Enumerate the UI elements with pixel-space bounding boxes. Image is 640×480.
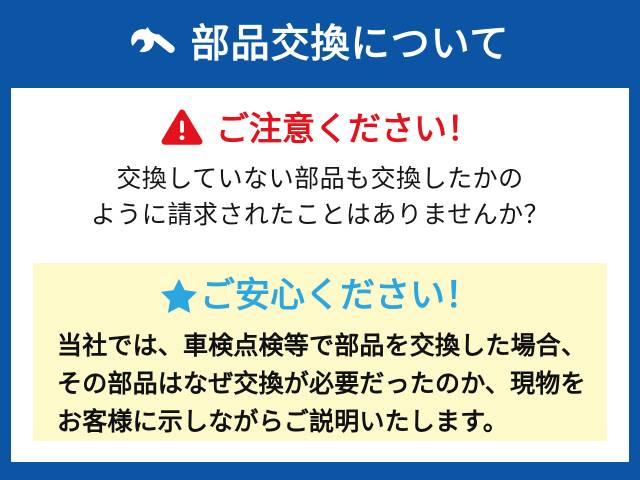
warning-triangle-icon	[160, 108, 204, 148]
parts-replacement-banner: 部品交換について ご注意ください！ 交換していない部品も交換したかの ように請求…	[0, 0, 640, 480]
caution-title: ご注意ください！	[216, 112, 480, 145]
assurance-body-line: その部品はなぜ交換が必要だったのか、現物を	[57, 365, 607, 403]
caution-body-text: 交換していない部品も交換したかの ように請求されたことはありませんか？	[11, 162, 629, 233]
assurance-body-line: お客様に示しながらご説明いたします。	[57, 403, 607, 441]
caution-body-line: 交換していない部品も交換したかの	[11, 162, 629, 198]
wrench-icon	[131, 23, 175, 67]
header-title: 部品交換について	[191, 25, 510, 64]
assurance-box: ご安心ください！ 当社では、車検点検等で部品を交換した場合、 その部品はなぜ交換…	[33, 263, 607, 441]
assurance-body-text: 当社では、車検点検等で部品を交換した場合、 その部品はなぜ交換が必要だったのか、…	[33, 327, 607, 441]
caution-body-line: ように請求されたことはありませんか？	[11, 198, 629, 234]
assurance-body-line: 当社では、車検点検等で部品を交換した場合、	[57, 327, 607, 365]
caution-heading-row: ご注意ください！	[11, 108, 629, 148]
star-icon	[160, 277, 198, 315]
assurance-heading-row: ご安心ください！	[33, 275, 607, 315]
assurance-title: ご安心ください！	[200, 278, 480, 313]
content-card: ご注意ください！ 交換していない部品も交換したかの ように請求されたことはありま…	[11, 88, 629, 462]
banner-header: 部品交換について	[0, 0, 640, 88]
